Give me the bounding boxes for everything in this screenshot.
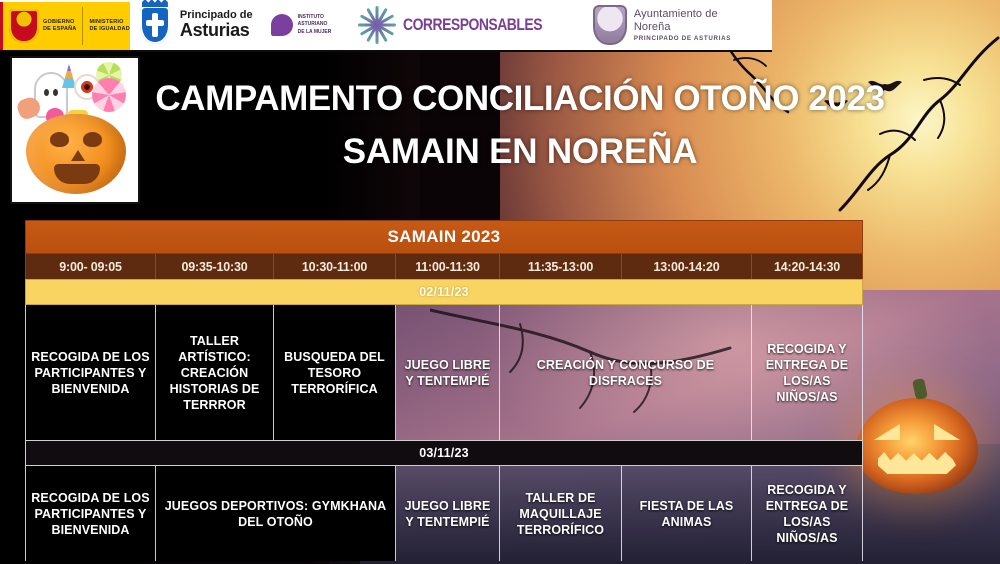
- norena-coat-of-arms-icon: [593, 5, 627, 45]
- date-bar-day-2: 03/11/23: [25, 440, 863, 466]
- instituto-label: INSTITUTO ASTURIANO DE LA MUJER: [298, 14, 332, 36]
- pumpkin-mouth: [878, 452, 956, 474]
- pumpkin-eye-right: [934, 424, 960, 440]
- instituto-line3: DE LA MUJER: [298, 29, 332, 36]
- time-slot-cell: 11:35-13:00: [500, 254, 622, 279]
- mujer-symbol-icon: [271, 14, 293, 36]
- ministerio-line1: MINISTERIO: [89, 19, 129, 26]
- time-slot-cell: 09:35-10:30: [156, 254, 274, 279]
- asturias-line2: Asturias: [180, 21, 253, 40]
- activity-row-day-1: RECOGIDA DE LOS PARTICIPANTES Y BIENVENI…: [25, 305, 863, 440]
- activity-cell: RECOGIDA Y ENTREGA DE LOS/AS NIÑOS/AS: [752, 466, 862, 561]
- gobierno-label: GOBIERNO DE ESPAÑA: [43, 19, 76, 34]
- logo-principado-de-asturias: Principado de Asturias: [130, 0, 253, 50]
- poster-title: CAMPAMENTO CONCILIACIÓN OTOÑO 2023 SAMAI…: [120, 78, 920, 173]
- gobierno-line1: GOBIERNO: [43, 19, 76, 26]
- schedule-table: SAMAIN 2023 9:00- 09:05 09:35-10:30 10:3…: [25, 220, 863, 561]
- ayuntamiento-label: Ayuntamiento de Noreña PRINCIPADO DE AST…: [634, 8, 731, 42]
- pumpkin-eye-left: [874, 424, 900, 440]
- logo-divider: [82, 7, 83, 45]
- activity-cell: RECOGIDA DE LOS PARTICIPANTES Y BIENVENI…: [26, 466, 156, 561]
- instituto-line1: INSTITUTO: [298, 14, 332, 21]
- ministerio-label: MINISTERIO DE IGUALDAD: [89, 19, 129, 34]
- ayuntamiento-line2: Noreña: [634, 21, 731, 33]
- activity-cell: TALLER DE MAQUILLAJE TERRORÍFICO: [500, 466, 622, 561]
- jack-o-lantern-icon: [856, 398, 978, 494]
- pumpkin-basket-icon: [26, 114, 126, 194]
- ayuntamiento-line3: PRINCIPADO DE ASTURIAS: [634, 35, 731, 42]
- pumpkin-mouth: [54, 164, 100, 184]
- pumpkin-nose: [71, 150, 85, 161]
- poster-root: GOBIERNO DE ESPAÑA MINISTERIO DE IGUALDA…: [0, 0, 1000, 564]
- institutional-logo-strip: GOBIERNO DE ESPAÑA MINISTERIO DE IGUALDA…: [0, 0, 772, 52]
- logo-gobierno-de-espana: GOBIERNO DE ESPAÑA MINISTERIO DE IGUALDA…: [0, 2, 130, 50]
- title-line-2: SAMAIN EN NOREÑA: [120, 131, 920, 173]
- asturias-label: Principado de Asturias: [180, 10, 253, 40]
- corresponsables-starburst-icon: [357, 5, 397, 45]
- time-slot-header-row: 9:00- 09:05 09:35-10:30 10:30-11:00 11:0…: [25, 254, 863, 279]
- crown-icon: [142, 0, 168, 7]
- title-line-1: CAMPAMENTO CONCILIACIÓN OTOÑO 2023: [120, 78, 920, 119]
- pumpkin-eye-right: [83, 132, 102, 147]
- activity-row-day-2: RECOGIDA DE LOS PARTICIPANTES Y BIENVENI…: [25, 466, 863, 561]
- activity-cell: RECOGIDA Y ENTREGA DE LOS/AS NIÑOS/AS: [752, 305, 862, 440]
- logo-ayuntamiento-de-norena: Ayuntamiento de Noreña PRINCIPADO DE AST…: [593, 0, 731, 50]
- ministerio-line2: DE IGUALDAD: [89, 26, 129, 33]
- activity-cell: FIESTA DE LAS ANIMAS: [622, 466, 752, 561]
- gobierno-line2: DE ESPAÑA: [43, 26, 76, 33]
- schedule-banner: SAMAIN 2023: [25, 220, 863, 254]
- activity-cell-merged: CREACIÓN Y CONCURSO DE DISFRACES: [500, 305, 752, 440]
- activity-cell: JUEGO LIBRE Y TENTEMPIÉ: [396, 305, 500, 440]
- time-slot-cell: 13:00-14:20: [622, 254, 752, 279]
- asturias-cross-shield-icon: [140, 6, 170, 44]
- spain-coat-of-arms-icon: [9, 9, 39, 43]
- time-slot-cell: 9:00- 09:05: [26, 254, 156, 279]
- ayuntamiento-line1: Ayuntamiento de: [634, 8, 731, 20]
- logo-corresponsables: CORRESPONSABLES: [357, 0, 573, 50]
- pumpkin-eye-left: [50, 132, 69, 147]
- activity-cell: TALLER ARTÍSTICO: CREACIÓN HISTORIAS DE …: [156, 305, 274, 440]
- corresponsables-label: CORRESPONSABLES: [403, 15, 542, 35]
- date-bar-day-1: 02/11/23: [25, 279, 863, 305]
- time-slot-cell: 14:20-14:30: [752, 254, 862, 279]
- activity-cell: BUSQUEDA DEL TESORO TERRORÍFICA: [274, 305, 396, 440]
- activity-cell-merged: JUEGOS DEPORTIVOS: GYMKHANA DEL OTOÑO: [156, 466, 396, 561]
- activity-cell: JUEGO LIBRE Y TENTEMPIÉ: [396, 466, 500, 561]
- activity-cell: RECOGIDA DE LOS PARTICIPANTES Y BIENVENI…: [26, 305, 156, 440]
- instituto-line2: ASTURIANO: [298, 21, 332, 28]
- time-slot-cell: 10:30-11:00: [274, 254, 396, 279]
- logo-instituto-asturiano-de-la-mujer: INSTITUTO ASTURIANO DE LA MUJER: [271, 0, 332, 50]
- time-slot-cell: 11:00-11:30: [396, 254, 500, 279]
